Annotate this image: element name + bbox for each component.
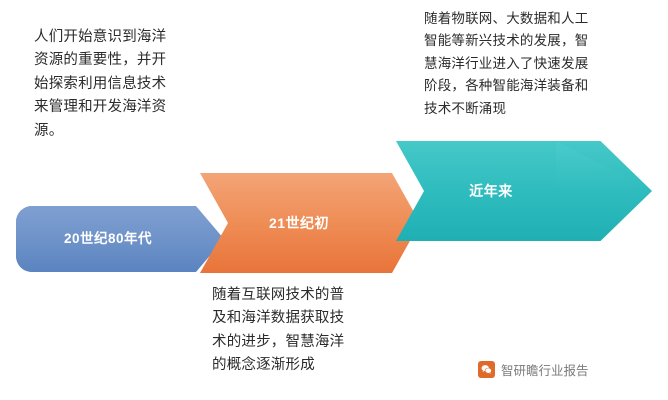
stage-2-chevron[interactable]: 21世纪初 <box>200 173 420 273</box>
arrow-head-icon <box>556 123 652 259</box>
stage-2-label: 21世纪初 <box>269 214 329 232</box>
stage-1-label: 20世纪80年代 <box>64 230 152 248</box>
stage-1-chevron[interactable]: 20世纪80年代 <box>16 206 224 272</box>
stage-3-caption: 随着物联网、大数据和人工 智能等新兴技术的发展，智 慧海洋行业进入了快速发展 阶… <box>424 8 640 120</box>
watermark-text: 智研瞻行业报告 <box>501 360 589 379</box>
watermark: 智研瞻行业报告 <box>478 360 589 379</box>
stage-3-label: 近年来 <box>469 182 513 200</box>
wechat-icon <box>478 361 495 378</box>
stage-1-caption: 人们开始意识到海洋 资源的重要性，并开 始探索利用信息技术 来管理和开发海洋资 … <box>34 26 242 143</box>
stage-2-caption: 随着互联网技术的普 及和海洋数据获取技 术的进步，智慧海洋 的概念逐渐形成 <box>212 284 420 378</box>
diagram-canvas: 人们开始意识到海洋 资源的重要性，并开 始探索利用信息技术 来管理和开发海洋资 … <box>0 0 668 400</box>
